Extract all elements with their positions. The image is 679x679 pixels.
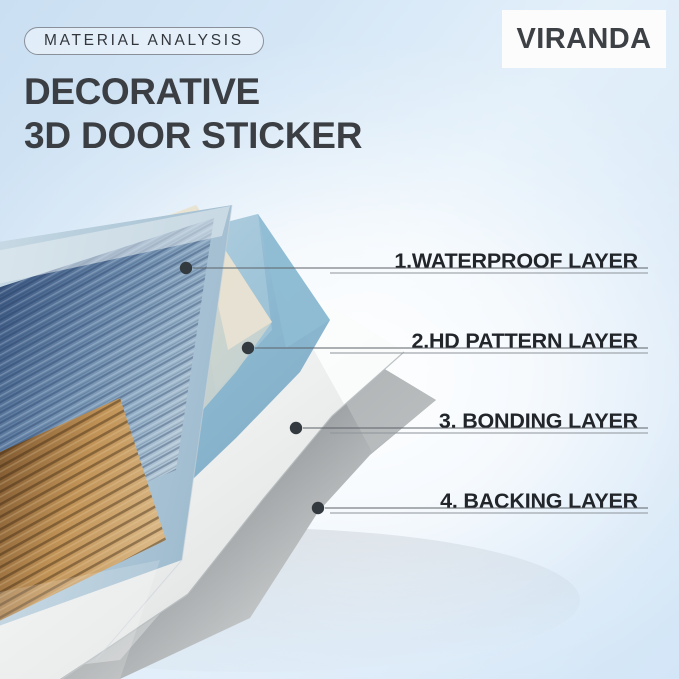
eyebrow-label: MATERIAL ANALYSIS	[44, 32, 244, 50]
callout-waterproof-layer: 1.WATERPROOF LAYER	[394, 249, 638, 273]
callout-label-1: 1.WATERPROOF LAYER	[394, 249, 638, 273]
callout-hd-pattern-layer: 2.HD PATTERN LAYER	[411, 329, 638, 353]
callout-backing-layer: 4. BACKING LAYER	[440, 489, 638, 513]
page-title: DECORATIVE 3D DOOR STICKER	[24, 70, 362, 158]
brand-name: VIRANDA	[517, 23, 652, 56]
brand-logo: VIRANDA	[502, 10, 666, 68]
callout-bonding-layer: 3. BONDING LAYER	[439, 409, 638, 433]
callout-dot	[242, 342, 254, 354]
callout-label-4: 4. BACKING LAYER	[440, 489, 638, 513]
callout-dot	[312, 502, 324, 514]
callout-dot	[290, 422, 302, 434]
eyebrow-badge: MATERIAL ANALYSIS	[24, 27, 264, 55]
callout-dot	[180, 262, 192, 274]
infographic-canvas: MATERIAL ANALYSIS DECORATIVE 3D DOOR STI…	[0, 0, 679, 679]
callout-label-2: 2.HD PATTERN LAYER	[411, 329, 638, 353]
callout-label-3: 3. BONDING LAYER	[439, 409, 638, 433]
headline-line-1: DECORATIVE	[24, 70, 362, 114]
headline-line-2: 3D DOOR STICKER	[24, 114, 362, 158]
